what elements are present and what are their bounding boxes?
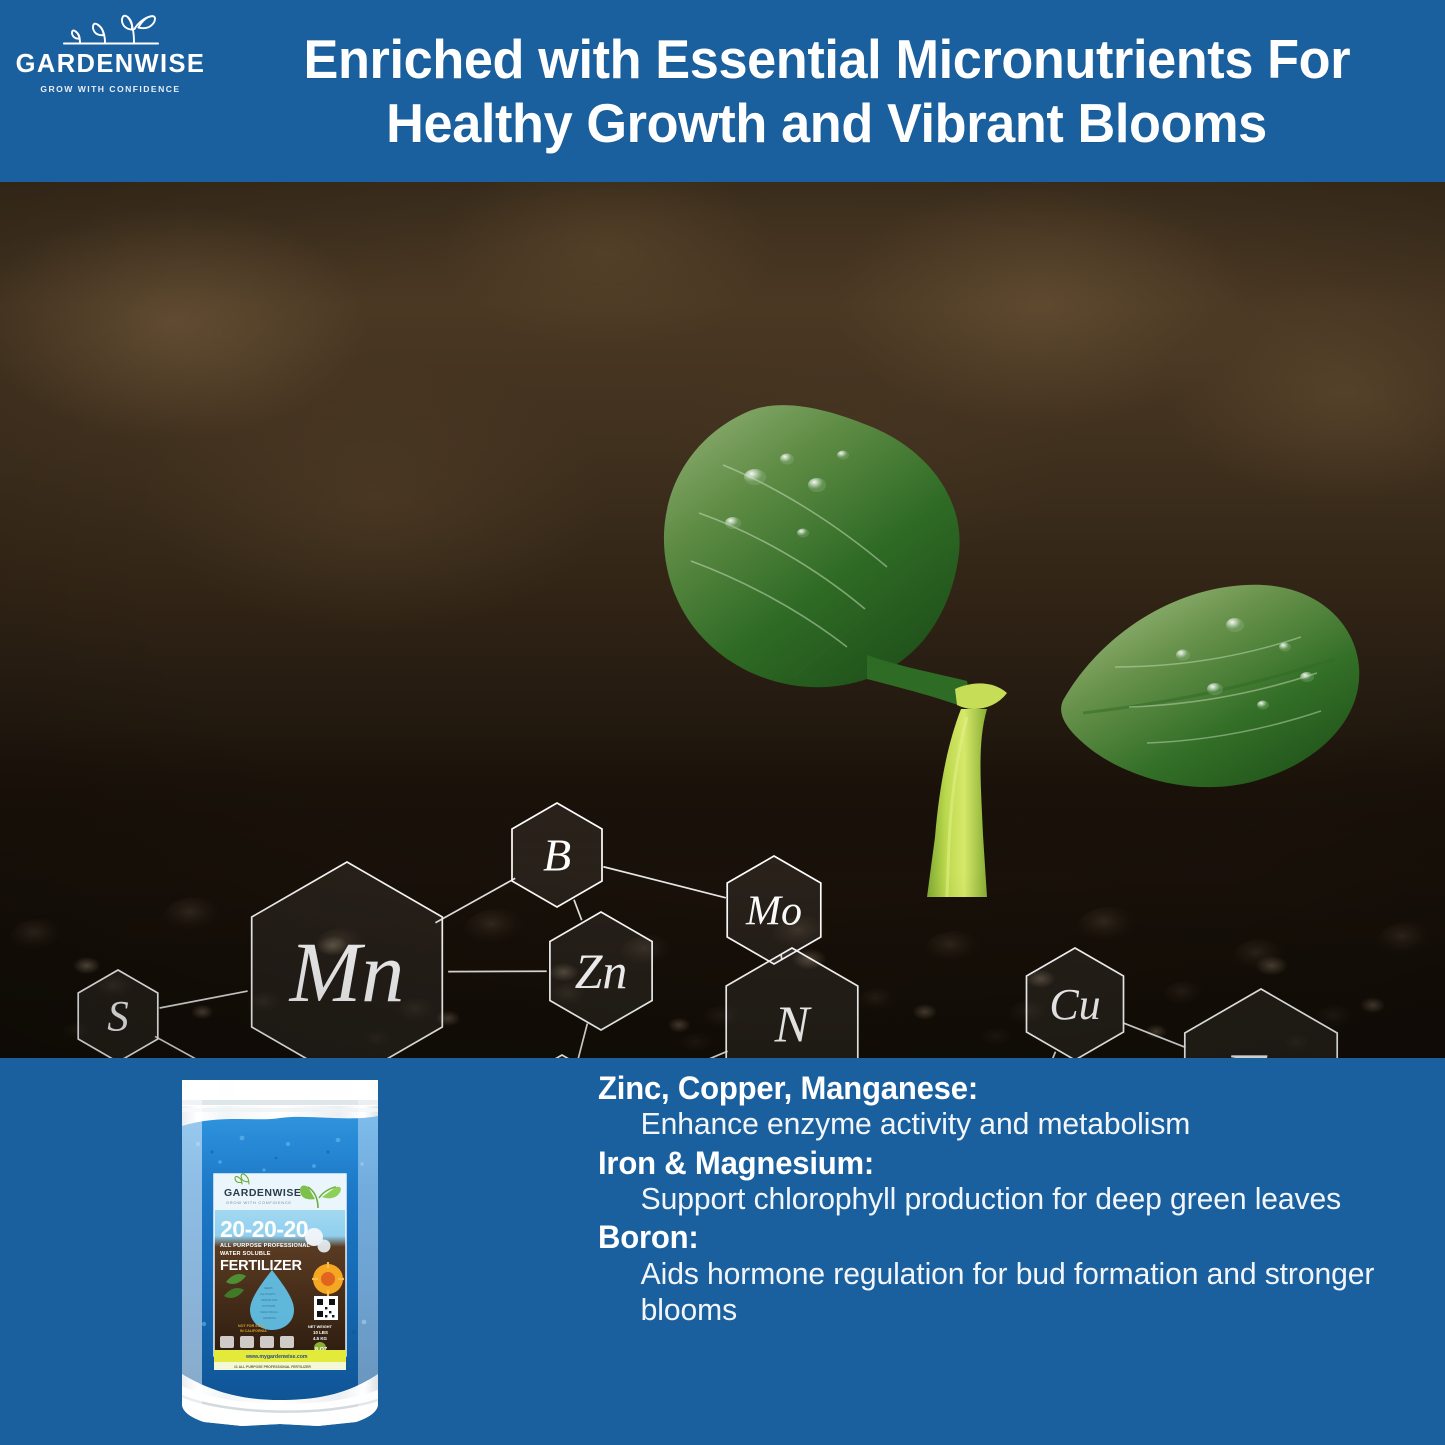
- svg-text:ALL PURPOSE PROFESSIONAL: ALL PURPOSE PROFESSIONAL: [220, 1243, 311, 1249]
- svg-text:OUTDOOR: OUTDOOR: [262, 1304, 275, 1308]
- benefit-item: Boron: Aids hormone regulation for bud f…: [598, 1219, 1418, 1328]
- nutrient-node-N: N: [726, 948, 858, 1058]
- nutrient-label: Mo: [745, 888, 802, 934]
- brand-name: GARDENWISE: [16, 52, 206, 78]
- svg-text:#1 ALL PURPOSE PROFESSIONAL FE: #1 ALL PURPOSE PROFESSIONAL FERTILIZER: [234, 1365, 311, 1369]
- benefit-item: Iron & Magnesium: Support chlorophyll pr…: [598, 1145, 1418, 1218]
- infographic-page: GARDENWISE GROW WITH CONFIDENCE Enriched…: [0, 0, 1445, 1445]
- svg-text:4.5 KG: 4.5 KG: [313, 1336, 327, 1341]
- nutrient-label: B: [543, 830, 571, 881]
- svg-text:20-20-20: 20-20-20: [220, 1216, 308, 1242]
- svg-text:GROWING: GROWING: [263, 1316, 276, 1320]
- nutrient-label: Cu: [1049, 980, 1100, 1029]
- svg-text:ALL PLANTS: ALL PLANTS: [260, 1292, 276, 1296]
- svg-text:GROW WITH CONFIDENCE: GROW WITH CONFIDENCE: [226, 1200, 292, 1205]
- benefit-body: Aids hormone regulation for bud formatio…: [598, 1256, 1393, 1329]
- product-package: GARDENWISE GROW WITH CONFIDENCE 20-20-20…: [168, 1074, 392, 1432]
- bond-S-Mn: [160, 991, 248, 1008]
- svg-text:WATER SOLUBLE: WATER SOLUBLE: [220, 1251, 271, 1257]
- nutrient-label: Mn: [288, 924, 405, 1020]
- nutrient-label: Fe: [1223, 1040, 1298, 1058]
- benefit-item: Zinc, Copper, Manganese: Enhance enzyme …: [598, 1070, 1418, 1143]
- bond-Cu-Fe: [1123, 1023, 1186, 1048]
- hero-photo: CaSKMnBZnMgMoNCuPFe: [0, 182, 1445, 1058]
- nutrient-node-S: S: [78, 970, 158, 1058]
- three-sprouts-icon: [50, 6, 172, 50]
- svg-text:FERTILIZER: FERTILIZER: [220, 1258, 303, 1274]
- bond-Zn-Mg: [577, 1024, 587, 1058]
- bond-S-K: [155, 1036, 277, 1058]
- nutrient-node-Zn: Zn: [550, 912, 652, 1030]
- svg-text:FEEDS: FEEDS: [264, 1286, 273, 1290]
- nutrient-label: S: [107, 994, 129, 1041]
- micronutrient-network-diagram: CaSKMnBZnMgMoNCuPFe: [0, 182, 1445, 1058]
- benefits-list: Zinc, Copper, Manganese: Enhance enzyme …: [598, 1070, 1418, 1440]
- nutrient-nodes: CaSKMnBZnMgMoNCuPFe: [56, 803, 1337, 1058]
- headline-line-1: Enriched with Essential Micronutrients F…: [304, 28, 1351, 92]
- benefit-heading: Zinc, Copper, Manganese:: [598, 1070, 1393, 1106]
- headline-line-2: Healthy Growth and Vibrant Blooms: [387, 92, 1268, 156]
- bond-N-Mg: [618, 1051, 728, 1058]
- nutrient-node-Cu: Cu: [1027, 948, 1124, 1058]
- footer-benefits-panel: GARDENWISE GROW WITH CONFIDENCE 20-20-20…: [0, 1058, 1445, 1445]
- headline: Enriched with Essential Micronutrients F…: [222, 14, 1432, 170]
- brand-tagline: GROW WITH CONFIDENCE: [40, 84, 180, 94]
- nutrient-node-Mo: Mo: [727, 856, 821, 964]
- svg-text:NET WEIGHT: NET WEIGHT: [308, 1325, 333, 1329]
- nutrient-node-Mn: Mn: [252, 862, 443, 1058]
- benefit-heading: Boron:: [598, 1219, 1393, 1255]
- bond-B-Zn: [574, 900, 582, 921]
- svg-text:GARDENWISE: GARDENWISE: [224, 1187, 301, 1199]
- benefit-body: Support chlorophyll production for deep …: [598, 1181, 1393, 1217]
- header-banner: GARDENWISE GROW WITH CONFIDENCE Enriched…: [0, 0, 1445, 182]
- bond-Mn-B: [435, 878, 515, 922]
- svg-text:NOT FOR SALE: NOT FOR SALE: [238, 1324, 265, 1328]
- package-label: GARDENWISE GROW WITH CONFIDENCE 20-20-20…: [214, 1174, 346, 1370]
- benefit-body: Enhance enzyme activity and metabolism: [598, 1106, 1393, 1142]
- svg-text:INDOOR AND: INDOOR AND: [261, 1298, 278, 1302]
- svg-text:SAFE FOR ALL: SAFE FOR ALL: [260, 1310, 279, 1314]
- bond-B-Mo: [603, 867, 725, 898]
- nutrient-label: Zn: [575, 943, 628, 999]
- benefit-heading: Iron & Magnesium:: [598, 1145, 1393, 1181]
- brand-logo: GARDENWISE GROW WITH CONFIDENCE: [8, 6, 213, 111]
- qr-code-icon: [314, 1296, 338, 1320]
- svg-text:IN CALIFORNIA: IN CALIFORNIA: [240, 1329, 267, 1333]
- svg-text:www.mygardenwise.com: www.mygardenwise.com: [245, 1354, 308, 1360]
- nutrient-label: N: [774, 997, 813, 1054]
- nutrient-node-B: B: [512, 803, 602, 907]
- nutrient-node-Fe: Fe: [1185, 989, 1337, 1058]
- svg-text:10 LBS: 10 LBS: [313, 1330, 328, 1335]
